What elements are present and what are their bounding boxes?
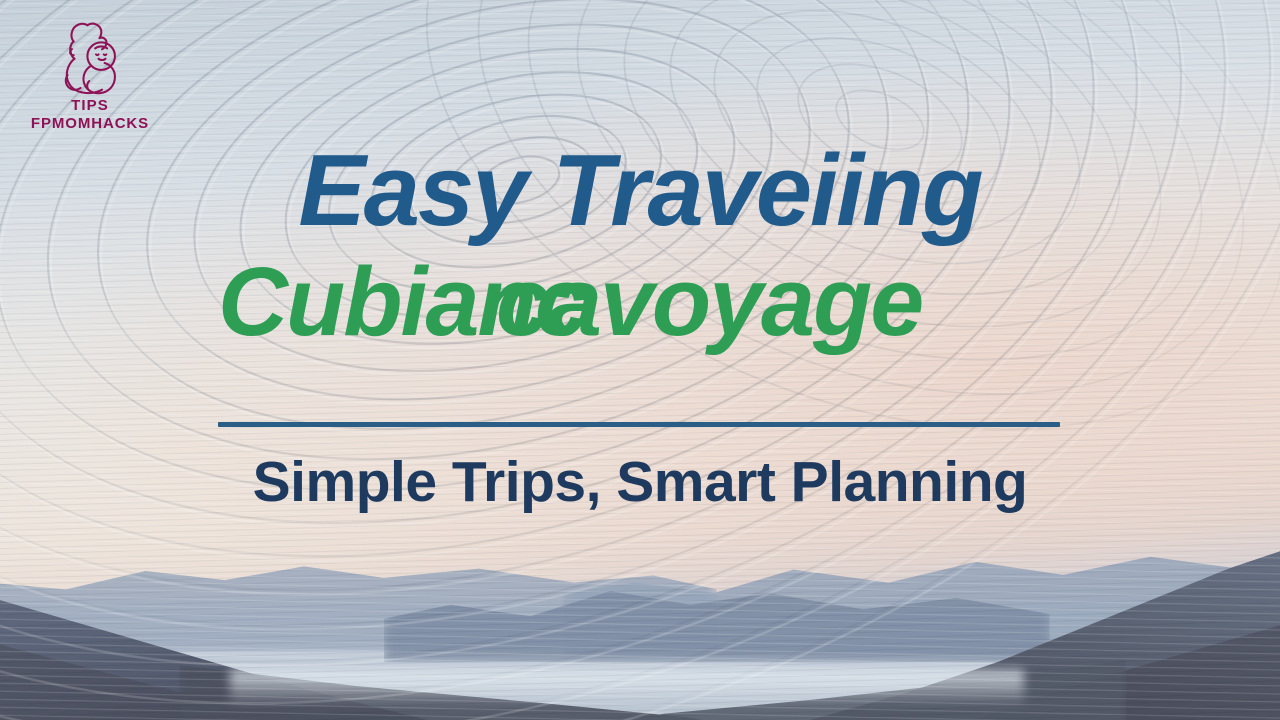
hero-brand-word-secondary: cavoyage xyxy=(496,251,922,353)
hero-brand-line: Cubianc cavoyage xyxy=(0,251,1280,359)
poster-canvas: TIPS FPMOMHACKS Easy Traveiing Cubianc c… xyxy=(0,0,1280,720)
hero-subtitle: Simple Trips, Smart Planning xyxy=(0,449,1280,515)
grain-lines-light xyxy=(0,0,1280,720)
hero-copy: Easy Traveiing Cubianc cavoyage xyxy=(0,140,1280,359)
logo-text-fpmomhacks: FPMOMHACKS xyxy=(24,115,156,134)
logo-text-tips: TIPS xyxy=(24,98,156,115)
hero-headline: Easy Traveiing xyxy=(0,140,1280,243)
hero-divider xyxy=(218,422,1060,427)
brand-logo[interactable]: TIPS FPMOMHACKS xyxy=(24,14,156,133)
mother-and-baby-icon xyxy=(47,14,133,100)
